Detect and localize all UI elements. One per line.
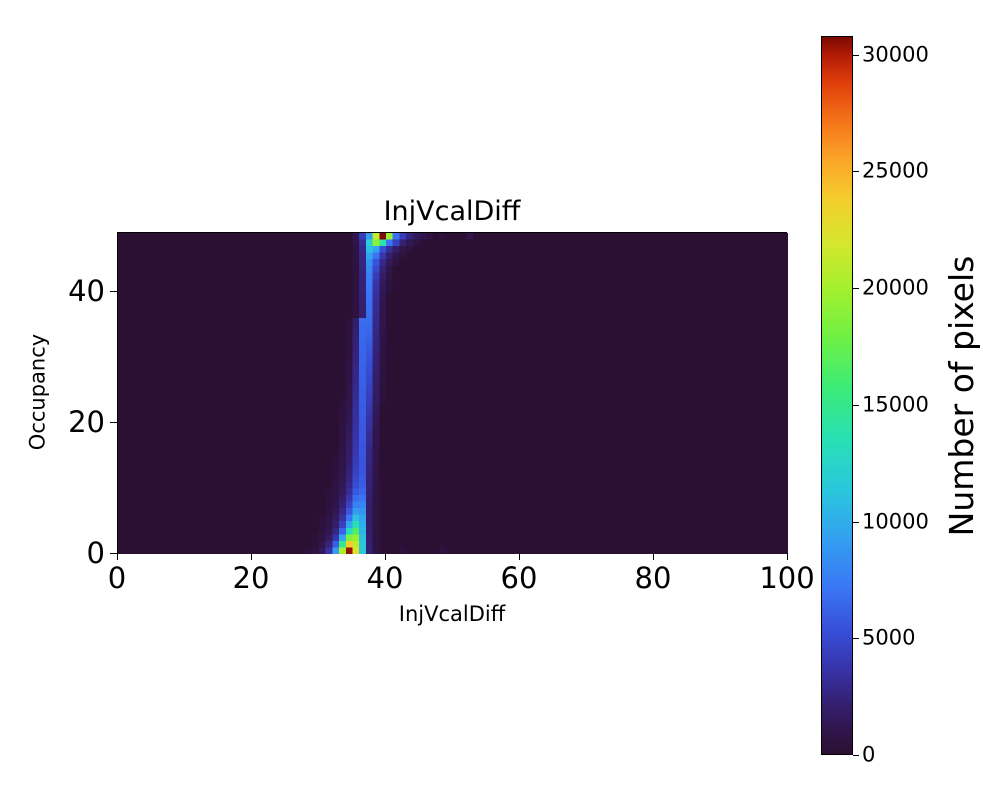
colorbar-tick-label: 25000 xyxy=(862,159,929,184)
colorbar-tick-mark xyxy=(853,55,859,56)
y-axis-label-text: Occupancy xyxy=(26,334,51,450)
x-tick-label: 100 xyxy=(759,561,814,595)
x-tick-label: 0 xyxy=(108,561,126,595)
y-tick-mark xyxy=(110,422,117,423)
colorbar-tick-mark xyxy=(853,405,859,406)
x-tick-mark xyxy=(117,553,118,560)
colorbar-tick-label: 5000 xyxy=(862,626,915,651)
page-title: InjVcalDiff xyxy=(117,196,787,228)
colorbar-gradient xyxy=(822,37,852,754)
x-tick-mark xyxy=(251,553,252,560)
colorbar-tick-label: 10000 xyxy=(862,509,929,534)
colorbar-tick-label: 30000 xyxy=(862,42,929,67)
x-tick-label: 40 xyxy=(367,561,404,595)
colorbar-tick-mark xyxy=(853,755,859,756)
colorbar-tick-mark xyxy=(853,171,859,172)
x-tick-mark xyxy=(385,553,386,560)
y-tick-label: 20 xyxy=(68,405,105,439)
heatmap-image xyxy=(118,233,788,554)
x-tick-mark xyxy=(653,553,654,560)
colorbar-tick-label: 20000 xyxy=(862,276,929,301)
heatmap-axes[interactable] xyxy=(117,232,787,553)
figure-canvas: InjVcalDiff 020406080100 InjVcalDiff 020… xyxy=(0,0,1000,800)
x-tick-mark xyxy=(519,553,520,560)
y-tick-mark xyxy=(110,553,117,554)
x-tick-label: 20 xyxy=(233,561,270,595)
x-tick-mark xyxy=(787,553,788,560)
colorbar-tick-label: 0 xyxy=(862,743,875,768)
colorbar-tick-mark xyxy=(853,288,859,289)
y-tick-label: 0 xyxy=(87,536,105,570)
x-axis-label: InjVcalDiff xyxy=(117,602,787,627)
colorbar-tick-label: 15000 xyxy=(862,392,929,417)
colorbar[interactable] xyxy=(821,36,853,755)
y-tick-label: 40 xyxy=(68,274,105,308)
colorbar-label-text: Number of pixels xyxy=(943,256,981,537)
colorbar-tick-mark xyxy=(853,522,859,523)
x-tick-label: 80 xyxy=(635,561,672,595)
colorbar-tick-mark xyxy=(853,638,859,639)
y-tick-mark xyxy=(110,291,117,292)
x-tick-label: 60 xyxy=(501,561,538,595)
